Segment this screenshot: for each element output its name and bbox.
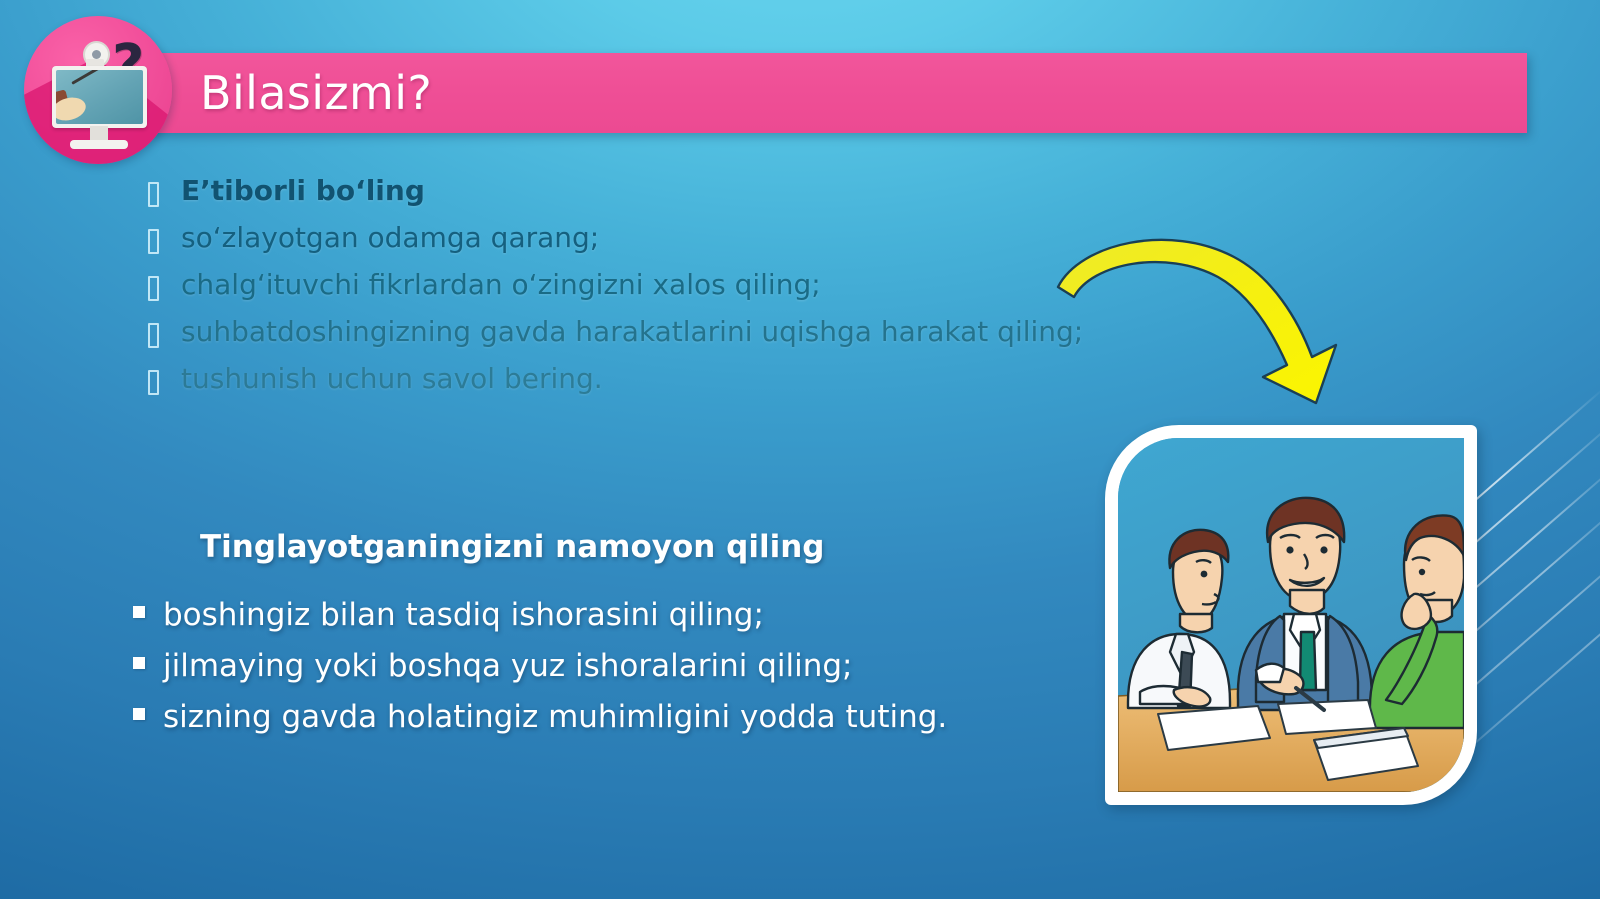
- list-item: sizning gavda holatingiz muhimligini yod…: [133, 694, 1093, 741]
- square-bullet-icon: [133, 657, 145, 669]
- monitor-base: [70, 140, 128, 149]
- monitor-icon: [52, 66, 147, 128]
- page-title: Bilasizmi?: [200, 53, 1300, 133]
- list-item: E’tiborli bo‘ling: [148, 176, 1328, 207]
- curved-down-right-arrow-icon: [1020, 215, 1360, 415]
- section-heading: Tinglayotganingizni namoyon qiling: [200, 525, 900, 569]
- list-item-label: boshingiz bilan tasdiq ishorasini qiling…: [163, 592, 764, 639]
- monitor-question-icon: ?: [24, 16, 172, 164]
- list-item-label: so‘zlayotgan odamga qarang;: [181, 223, 599, 253]
- list-item-label: tushunish uchun savol bering.: [181, 364, 603, 394]
- meeting-photo-frame: [1105, 425, 1477, 805]
- square-bullet-icon: [133, 708, 145, 720]
- slide-canvas: Bilasizmi? ? E’tiborli bo‘ling so‘zlayot…: [0, 0, 1600, 899]
- monitor-screen: [56, 70, 143, 124]
- meeting-illustration: [1118, 438, 1464, 792]
- list-item: boshingiz bilan tasdiq ishorasini qiling…: [133, 592, 1093, 639]
- square-bullet-icon: [133, 606, 145, 618]
- tofu-box-icon: [148, 323, 159, 348]
- pointer-stick-icon: [71, 70, 107, 85]
- tofu-box-icon: [148, 276, 159, 301]
- list-item-label: suhbatdoshingizning gavda harakatlarini …: [181, 317, 1083, 347]
- tofu-box-icon: [148, 229, 159, 254]
- list-item-label: E’tiborli bo‘ling: [181, 176, 425, 206]
- list-item-label: jilmaying yoki boshqa yuz ishoralarini q…: [163, 643, 852, 690]
- list-item-label: sizning gavda holatingiz muhimligini yod…: [163, 694, 947, 741]
- tofu-box-icon: [148, 370, 159, 395]
- tofu-box-icon: [148, 182, 159, 207]
- bottom-bullet-list: boshingiz bilan tasdiq ishorasini qiling…: [133, 592, 1093, 745]
- list-item: jilmaying yoki boshqa yuz ishoralarini q…: [133, 643, 1093, 690]
- list-item-label: chalg‘ituvchi fikrlardan o‘zingizni xalo…: [181, 270, 821, 300]
